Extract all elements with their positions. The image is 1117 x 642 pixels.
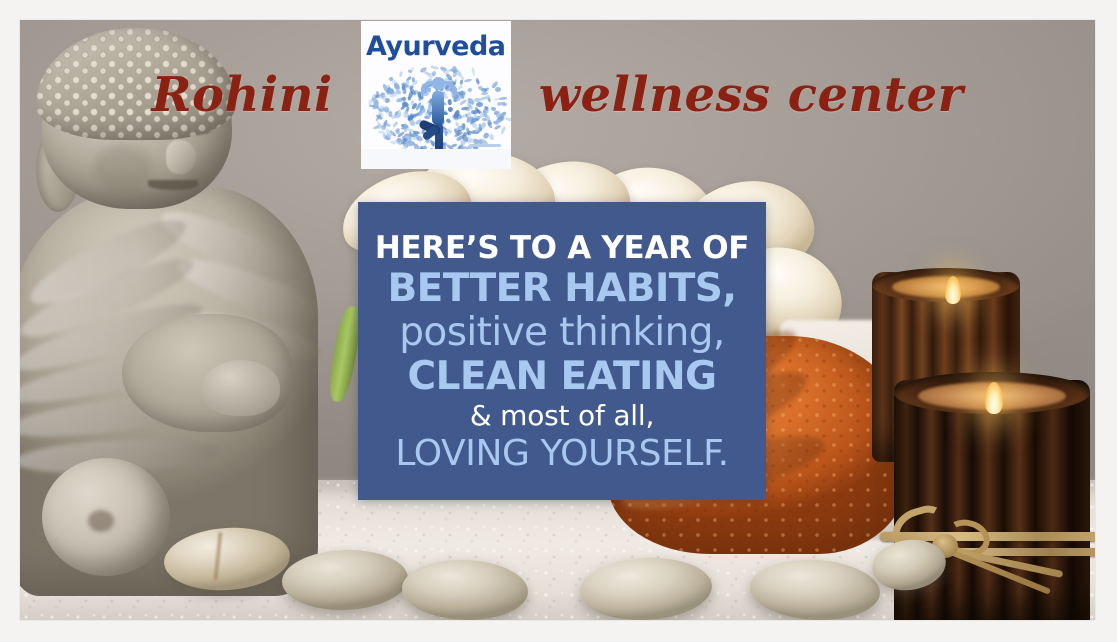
logo-ground-line	[469, 144, 501, 147]
ayurveda-logo: Ayurveda	[361, 21, 511, 169]
leaf-icon	[464, 78, 473, 83]
quote-card: HERE’S TO A YEAR OF BETTER HABITS, posit…	[358, 202, 766, 500]
logo-title: Ayurveda	[361, 31, 511, 62]
leaf-icon	[460, 139, 466, 145]
leaf-icon	[480, 96, 487, 101]
leaf-icon	[373, 125, 380, 130]
leaf-icon	[456, 127, 463, 130]
leaf-icon	[388, 110, 392, 117]
spa-photo: Rohini Ayurveda wellness center HERE’	[20, 20, 1095, 620]
brand-name-left: Rohini	[152, 67, 333, 123]
leaf-icon	[431, 70, 436, 76]
buddha-hand	[202, 360, 280, 416]
leaf-icon	[399, 71, 403, 77]
leaf-icon	[407, 91, 413, 99]
figure-torso	[432, 91, 444, 125]
leaf-icon	[489, 133, 494, 139]
quote-line-3: positive thinking,	[399, 313, 724, 352]
quote-line-2: BETTER HABITS,	[388, 269, 737, 308]
stone-ball-blemish	[88, 510, 114, 532]
logo-base-strip	[361, 149, 511, 169]
leaf-icon	[412, 77, 415, 82]
brand-name-right: wellness center	[539, 67, 964, 123]
leaf-icon	[471, 67, 476, 76]
quote-line-4: CLEAN EATING	[408, 357, 717, 396]
leaf-icon	[497, 102, 502, 107]
leaf-icon	[484, 86, 490, 91]
leaf-icon	[505, 117, 511, 122]
leaf-icon	[429, 65, 438, 70]
figure-head	[432, 77, 445, 90]
quote-line-5: & most of all,	[470, 402, 654, 430]
leaf-icon	[495, 86, 501, 91]
buddha-mouth	[148, 180, 198, 190]
leaf-icon	[457, 85, 462, 90]
quote-line-6: LOVING YOURSELF.	[395, 436, 728, 472]
leaf-icon	[392, 121, 399, 128]
slide-canvas: Rohini Ayurveda wellness center HERE’	[0, 0, 1117, 642]
leaf-icon	[487, 120, 491, 125]
quote-line-1: HERE’S TO A YEAR OF	[375, 233, 749, 264]
header-title-row: Rohini Ayurveda wellness center	[20, 20, 1095, 170]
leaf-icon	[467, 88, 472, 93]
leaf-icon	[460, 91, 465, 96]
leaf-icon	[477, 85, 483, 91]
